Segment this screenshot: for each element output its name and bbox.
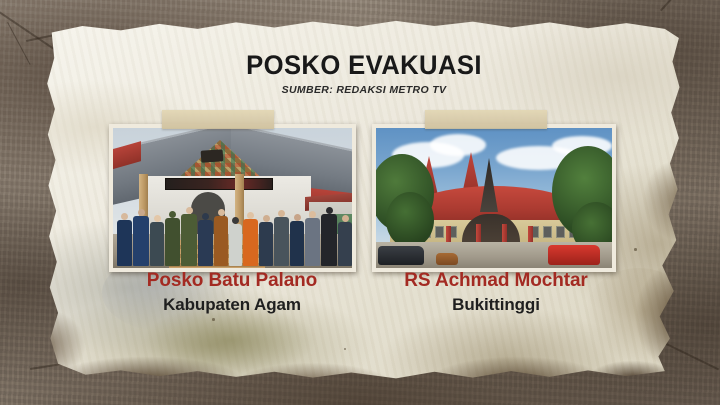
masking-tape — [162, 110, 274, 129]
photo-person — [243, 219, 258, 266]
photo-person — [181, 214, 197, 266]
photo-person — [305, 218, 320, 266]
paper-fleck — [634, 248, 637, 251]
caption-posko-batu-palano: Posko Batu Palano Kabupaten Agam — [96, 270, 368, 315]
photo-frame: RUMAH SAKIT UMUM DAERAH DR. ACHMAD MOCHT… — [372, 124, 616, 272]
photo-gable-damage — [201, 149, 224, 163]
photo-person — [165, 218, 180, 266]
photo-person — [133, 216, 149, 266]
caption-rs-achmad-mochtar: RS Achmad Mochtar Bukittinggi — [364, 270, 628, 315]
photo-rs-achmad-mochtar: RUMAH SAKIT UMUM DAERAH DR. ACHMAD MOCHT… — [376, 128, 612, 268]
masking-tape — [425, 110, 547, 129]
caption-subtitle: Kabupaten Agam — [96, 295, 368, 315]
paper-fleck — [344, 348, 346, 350]
photo-person — [150, 222, 164, 266]
concrete-crack — [660, 0, 708, 11]
photo-cloud — [430, 134, 486, 156]
photo-tree — [386, 192, 434, 248]
paper-fleck — [212, 318, 215, 321]
photo-person — [198, 220, 213, 266]
slide-stage: POSKO EVAKUASI SUMBER: REDAKSI METRO TV — [0, 0, 720, 405]
photo-car — [378, 246, 424, 265]
photo-person — [338, 222, 352, 266]
photo-person — [290, 221, 304, 266]
photo-person — [117, 220, 132, 266]
caption-title: Posko Batu Palano — [96, 270, 368, 292]
photo-person — [321, 214, 337, 266]
concrete-crack — [7, 22, 31, 65]
photo-person — [229, 224, 242, 266]
photo-car — [436, 253, 458, 265]
photo-posko-batu-palano — [113, 128, 352, 268]
photo-person — [214, 216, 228, 266]
aged-paper-sheet: POSKO EVAKUASI SUMBER: REDAKSI METRO TV — [44, 18, 684, 382]
photo-frame — [109, 124, 356, 272]
source-subtitle: SUMBER: REDAKSI METRO TV — [44, 84, 684, 96]
caption-title: RS Achmad Mochtar — [364, 270, 628, 292]
photo-banner — [165, 178, 273, 190]
photo-person — [259, 222, 273, 266]
page-title: POSKO EVAKUASI — [60, 52, 668, 79]
photo-person — [274, 217, 289, 266]
photo-car — [548, 245, 600, 265]
caption-subtitle: Bukittinggi — [364, 295, 628, 315]
header: POSKO EVAKUASI SUMBER: REDAKSI METRO TV — [44, 52, 684, 96]
